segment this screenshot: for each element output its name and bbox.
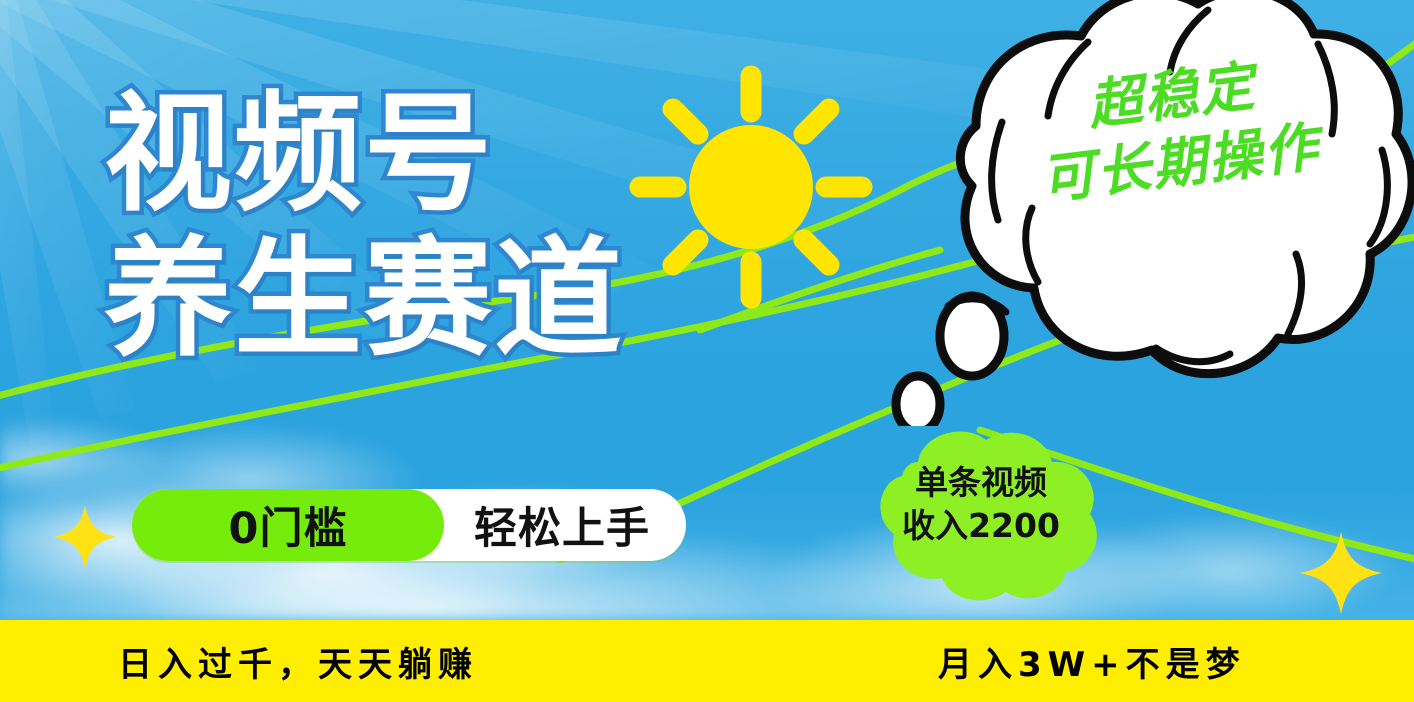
footer-left-text: 日入过千，天天躺赚 [118, 637, 478, 686]
earnings-blob: 单条视频 收入2200 [856, 420, 1106, 605]
sparkle-icon [52, 502, 118, 572]
pill-easy-start[interactable]: 轻松上手 [444, 489, 686, 561]
title-line-2: 养生赛道 [104, 237, 624, 362]
earnings-blob-line-2: 收入2200 [856, 505, 1106, 548]
feature-pill-group: 0门槛 轻松上手 [132, 489, 686, 561]
promo-poster: 视频号 养生赛道 0门槛 轻松上手 [0, 0, 1414, 702]
earnings-blob-line-1: 单条视频 [856, 462, 1106, 505]
pill-zero-threshold[interactable]: 0门槛 [132, 489, 444, 561]
footer-bar: 日入过千，天天躺赚 月入3W+不是梦 [0, 620, 1414, 702]
pill-zero-threshold-label: 0门槛 [229, 494, 348, 556]
pill-easy-start-label: 轻松上手 [474, 494, 650, 556]
earnings-blob-text: 单条视频 收入2200 [856, 462, 1106, 548]
thought-cloud: 超稳定 可长期操作 [826, 0, 1414, 426]
title-line-1: 视频号 [104, 92, 624, 217]
sparkle-icon [1298, 528, 1384, 618]
page-title: 视频号 养生赛道 [104, 92, 624, 363]
footer-right-text: 月入3W+不是梦 [938, 637, 1246, 686]
